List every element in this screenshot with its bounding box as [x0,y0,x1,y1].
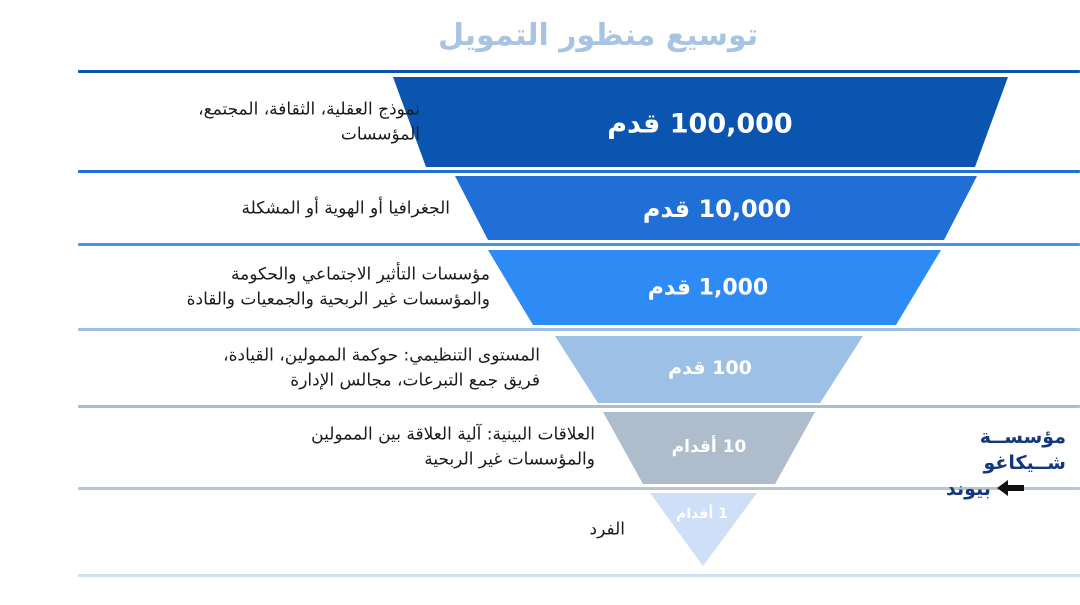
separator-rule-5 [78,405,1080,408]
logo-line-2: شــيكاغو [946,450,1066,476]
separator-rule-7 [78,574,1080,577]
separator-rule-1 [78,70,1080,73]
separator-rule-3 [78,243,1080,246]
side-label-10-feet: العلاقات البينية: آلية العلاقة بين الممو… [195,422,595,471]
side-label-100-feet: المستوى التنظيمي: حوكمة الممولين، القياد… [130,343,540,392]
band-value-10000-feet: 10,000 قدم [643,195,791,223]
side-label-line: والمؤسسات غير الربحية والجمعيات والقادة [120,287,490,312]
side-label-line: نموذج العقلية، الثقافة، المجتمع، [80,97,420,122]
band-value-100000-feet: 100,000 قدم [607,109,792,140]
band-value-10-feet: 10 أقدام [672,437,747,457]
band-value-1-foot: 1 أقدام [676,506,728,522]
side-label-line: الفرد [455,518,625,543]
separator-rule-2 [78,170,1080,173]
left-arrow-icon [995,477,1025,503]
band-value-100-feet: 100 قدم [668,357,752,379]
side-label-1000-feet: مؤسسات التأثير الاجتماعي والحكومة والمؤس… [120,262,490,311]
side-label-line: المؤسسات [80,122,420,147]
infographic-canvas: توسيع منظور التمويل 100,000 قدم 10,000 ق… [0,0,1080,605]
funnel-band-6 [650,493,757,566]
side-label-line: مؤسسات التأثير الاجتماعي والحكومة [120,262,490,287]
side-label-line: الجغرافيا أو الهوية أو المشكلة [130,197,450,222]
logo-line-1: مؤسســة [946,424,1066,450]
page-title: توسيع منظور التمويل [438,18,1058,53]
side-label-line: العلاقات البينية: آلية العلاقة بين الممو… [195,422,595,447]
side-label-line: المستوى التنظيمي: حوكمة الممولين، القياد… [130,343,540,368]
side-label-1-foot: الفرد [455,518,625,543]
side-label-line: فريق جمع التبرعات، مجالس الإدارة [130,368,540,393]
side-label-line: والمؤسسات غير الربحية [195,447,595,472]
separator-rule-4 [78,328,1080,331]
band-value-1000-feet: 1,000 قدم [648,276,769,301]
logo-line-3: بيوند [946,476,991,502]
separator-rule-6 [78,487,1080,490]
side-label-10000-feet: الجغرافيا أو الهوية أو المشكلة [130,197,450,222]
organization-logo: مؤسســة شــيكاغو بيوند [946,424,1066,503]
side-label-100000-feet: نموذج العقلية، الثقافة، المجتمع، المؤسسا… [80,97,420,146]
